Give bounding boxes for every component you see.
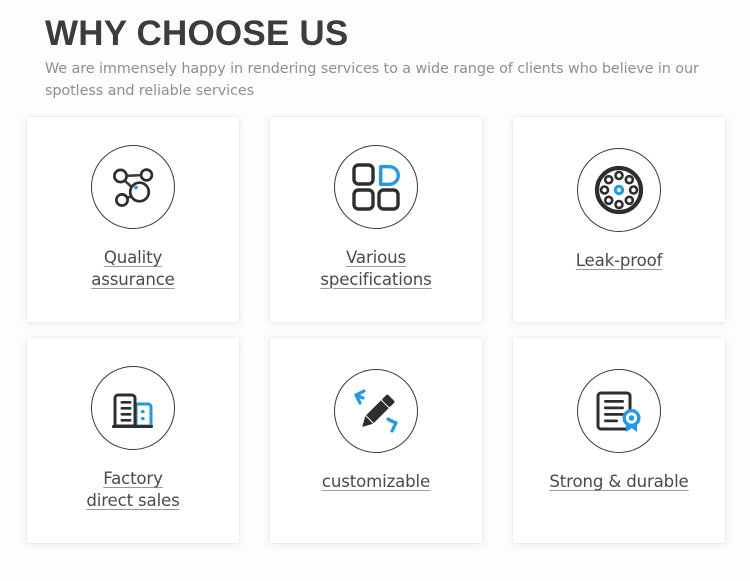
certificate-award-icon (577, 369, 661, 453)
feature-card-label-line1: customizable (322, 471, 430, 492)
grid-squares-icon (334, 145, 418, 229)
pencil-edit-icon (334, 369, 418, 453)
feature-card-label: Factory direct sales (86, 468, 179, 510)
feature-card-label-line1: Quality (91, 247, 174, 268)
feature-card-label: Leak-proof (576, 250, 663, 271)
feature-card-label-line1: Leak-proof (576, 250, 663, 271)
feature-card-label-line2: specifications (320, 269, 431, 290)
feature-card-label: Quality assurance (91, 247, 174, 289)
feature-card-label: Various specifications (320, 247, 431, 289)
feature-card-grid: Quality assurance Various specifications (27, 117, 725, 543)
why-choose-us-page: WHY CHOOSE US We are immensely happy in … (0, 0, 750, 581)
feature-card-strong-durable[interactable]: Strong & durable (513, 338, 725, 543)
page-title: WHY CHOOSE US (45, 14, 750, 53)
feature-card-label-line2: direct sales (86, 490, 179, 511)
feature-card-label: Strong & durable (549, 471, 688, 492)
factory-buildings-icon (91, 366, 175, 450)
feature-card-label-line1: Various (320, 247, 431, 268)
feature-card-leak-proof[interactable]: Leak-proof (513, 117, 725, 322)
feature-card-label-line2: assurance (91, 269, 174, 290)
feature-card-factory-direct-sales[interactable]: Factory direct sales (27, 338, 239, 543)
feature-card-label-line1: Factory (86, 468, 179, 489)
molecule-network-icon (91, 145, 175, 229)
feature-card-label: customizable (322, 471, 430, 492)
feature-card-quality-assurance[interactable]: Quality assurance (27, 117, 239, 322)
page-header: WHY CHOOSE US We are immensely happy in … (0, 0, 750, 103)
page-subtitle: We are immensely happy in rendering serv… (45, 59, 717, 103)
feature-card-label-line1: Strong & durable (549, 471, 688, 492)
feature-card-various-specifications[interactable]: Various specifications (270, 117, 482, 322)
cable-cross-section-icon (577, 148, 661, 232)
feature-card-customizable[interactable]: customizable (270, 338, 482, 543)
